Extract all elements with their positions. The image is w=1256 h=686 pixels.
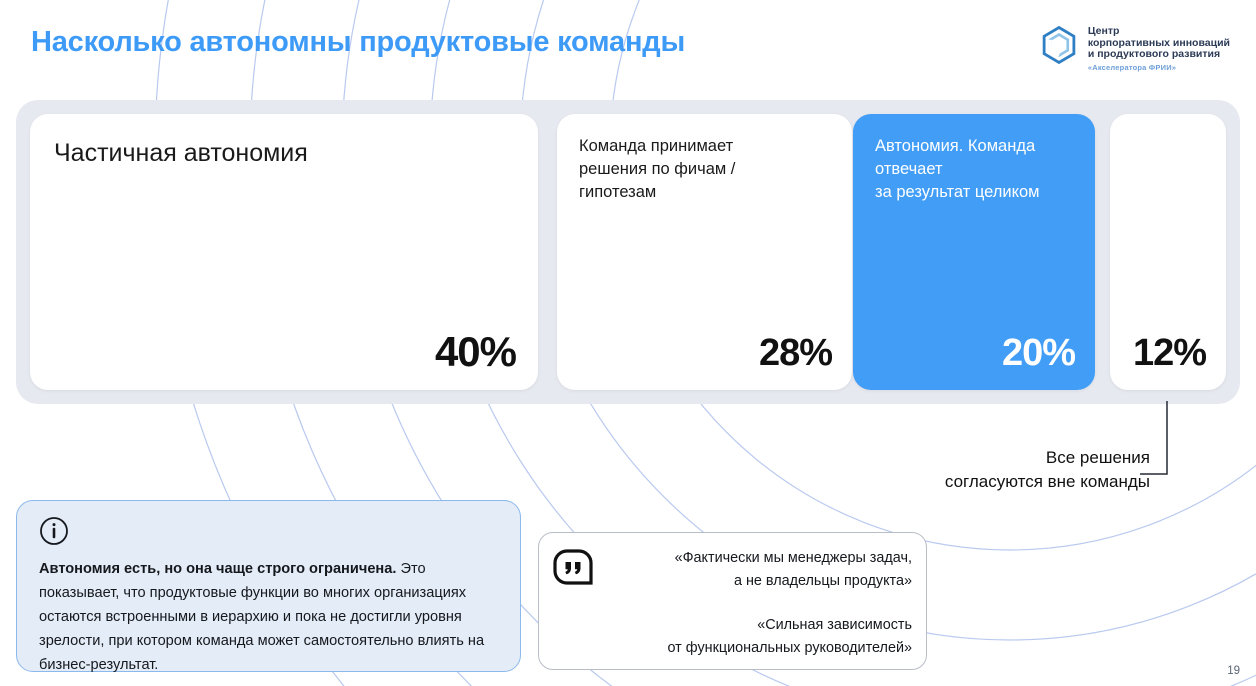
logo-wordmark: Центр корпоративных инноваций и продукто… [1088, 24, 1230, 72]
insight-text: Автономия есть, но она чаще строго огран… [39, 557, 498, 677]
page-title: Насколько автономны продуктовые команды [31, 26, 685, 59]
segment-label: Команда принимает решения по фичам / гип… [579, 135, 834, 204]
quotes-box: «Фактически мы менеджеры задач, а не вла… [538, 532, 927, 670]
quote-item: «Сильная зависимость от функциональных р… [612, 614, 912, 660]
insight-callout-box: Автономия есть, но она чаще строго огран… [16, 500, 521, 672]
logo-line-1: Центр [1088, 26, 1230, 38]
page-number: 19 [1227, 665, 1240, 677]
chart-segment-feature-decisions: Команда принимает решения по фичам / гип… [557, 114, 852, 390]
segment-value: 40% [435, 328, 516, 376]
segment-label: Автономия. Команда отвечает за результат… [875, 135, 1077, 204]
quote-bubble-icon [553, 549, 593, 587]
insight-body: Это показывает, что продуктовые функции … [39, 561, 484, 673]
logo-subtitle: «Акселератора ФРИИ» [1088, 63, 1230, 72]
segment-label: Частичная автономия [54, 138, 520, 168]
segment-value: 20% [1002, 332, 1075, 375]
chart-segment-full-autonomy: Автономия. Команда отвечает за результат… [853, 114, 1095, 390]
quote-item: «Фактически мы менеджеры задач, а не вла… [612, 547, 912, 593]
segment-value: 12% [1133, 332, 1206, 375]
chart-segment-partial-autonomy: Частичная автономия 40% [30, 114, 538, 390]
callout-label: Все решения согласуются вне команды [820, 446, 1150, 494]
info-circle-icon [39, 516, 69, 546]
insight-lead: Автономия есть, но она чаще строго огран… [39, 561, 396, 577]
logo-line-3: и продуктового развития [1088, 49, 1230, 61]
hexagon-spiral-logo-icon [1038, 24, 1080, 66]
quote-list: «Фактически мы менеджеры задач, а не вла… [612, 547, 912, 660]
chart-segment-external-approval: 12% [1110, 114, 1226, 390]
brand-logo: Центр корпоративных инноваций и продукто… [1038, 24, 1230, 72]
autonomy-distribution-chart: Частичная автономия 40% Команда принимае… [16, 100, 1240, 404]
segment-value: 28% [759, 332, 832, 375]
